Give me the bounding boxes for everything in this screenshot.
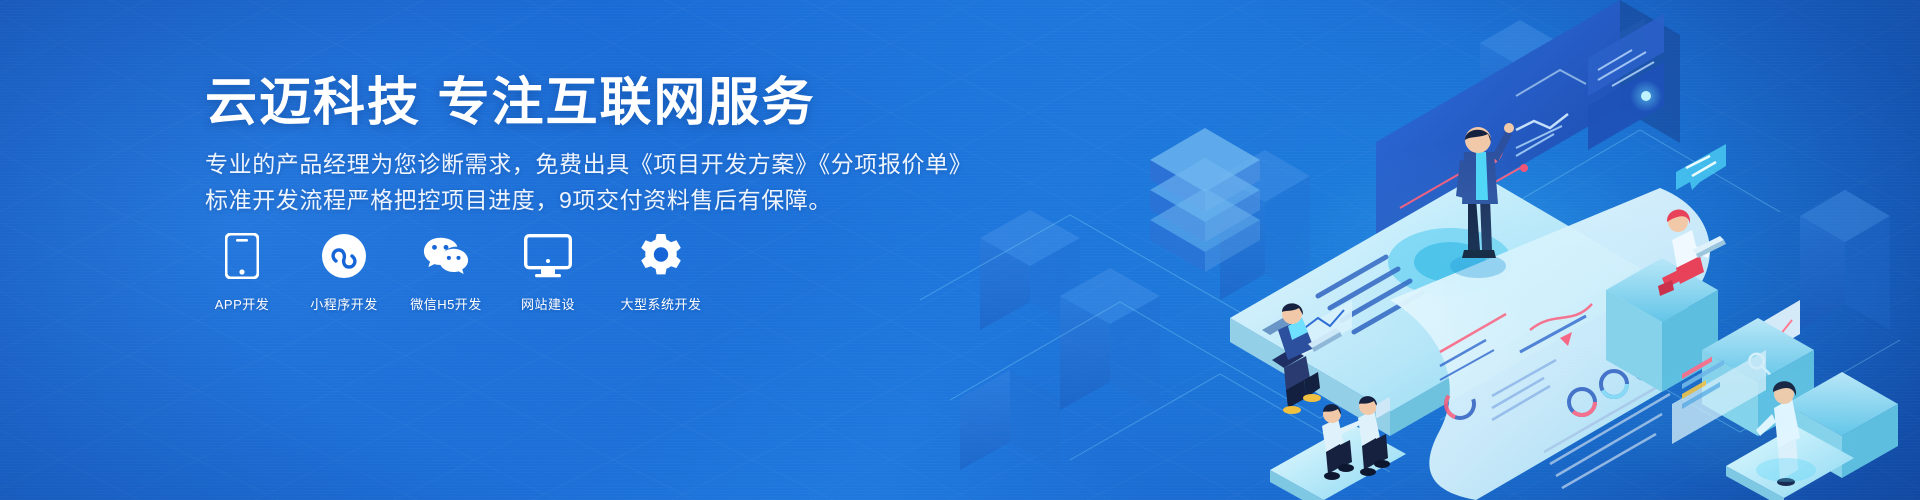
service-label: APP开发 bbox=[215, 294, 270, 313]
promotional-banner: 云迈科技 专注互联网服务 专业的产品经理为您诊断需求，免费出具《项目开发方案》《… bbox=[0, 0, 1920, 500]
isometric-technology-illustration bbox=[920, 0, 1920, 500]
description-line-2: 标准开发流程严格把控项目进度，9项交付资料售后有保障。 bbox=[205, 182, 972, 218]
service-label: 微信H5开发 bbox=[410, 294, 482, 313]
monitor-icon bbox=[524, 232, 572, 280]
mobile-phone-icon bbox=[218, 232, 266, 280]
service-label: 网站建设 bbox=[521, 294, 575, 313]
page-title: 云迈科技 专注互联网服务 bbox=[205, 74, 815, 134]
service-label: 小程序开发 bbox=[310, 294, 378, 313]
service-item-website[interactable]: 网站建设 bbox=[511, 232, 585, 313]
mini-program-icon bbox=[320, 232, 368, 280]
wechat-icon bbox=[422, 232, 470, 280]
service-list: APP开发 小程序开发 bbox=[205, 232, 709, 313]
banner-content: 云迈科技 专注互联网服务 专业的产品经理为您诊断需求，免费出具《项目开发方案》《… bbox=[0, 0, 960, 500]
description-line-1: 专业的产品经理为您诊断需求，免费出具《项目开发方案》《分项报价单》 bbox=[205, 146, 972, 182]
service-item-large-system[interactable]: 大型系统开发 bbox=[613, 232, 709, 313]
service-item-mini-program[interactable]: 小程序开发 bbox=[307, 232, 381, 313]
service-label: 大型系统开发 bbox=[620, 294, 701, 313]
gear-icon bbox=[637, 232, 685, 280]
banner-description: 专业的产品经理为您诊断需求，免费出具《项目开发方案》《分项报价单》 标准开发流程… bbox=[205, 146, 972, 218]
service-item-wechat-h5[interactable]: 微信H5开发 bbox=[409, 232, 483, 313]
service-item-app[interactable]: APP开发 bbox=[205, 232, 279, 313]
